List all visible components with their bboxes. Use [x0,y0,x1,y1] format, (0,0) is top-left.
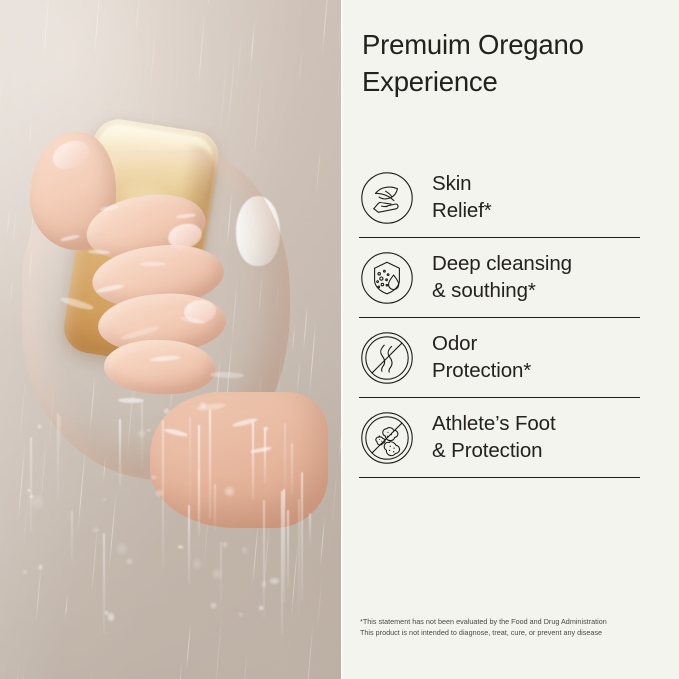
panel-left-edge [341,0,343,679]
shield-droplet-particles-icon [359,250,415,306]
feature-list: Skin Relief* [359,158,661,478]
feature-item-deep-cleansing: Deep cleansing & southing* [359,238,661,317]
hand-and-soap-composition [0,0,341,679]
no-germs-bacteria-icon [359,410,415,466]
legal-disclaimer: *This statement has not been evaluated b… [360,616,658,639]
leaf-on-hand-icon [359,170,415,226]
info-panel: Premuim Oregano Experience Skin Relief* [341,0,679,679]
no-odor-waves-icon [359,330,415,386]
feature-item-skin-relief: Skin Relief* [359,158,661,237]
feature-label: Skin Relief* [432,171,492,224]
feature-label: Deep cleansing & southing* [432,251,572,304]
product-feature-card: Premuim Oregano Experience Skin Relief* [0,0,679,679]
feature-label: Odor Protection* [432,331,531,384]
dripping-water [0,400,341,679]
feature-label: Athlete’s Foot & Protection [432,411,556,464]
page-title: Premuim Oregano Experience [362,26,652,101]
product-photo [0,0,341,679]
feature-item-odor-protection: Odor Protection* [359,318,661,397]
feature-item-athletes-foot: Athlete’s Foot & Protection [359,398,661,477]
feature-divider [359,477,640,478]
